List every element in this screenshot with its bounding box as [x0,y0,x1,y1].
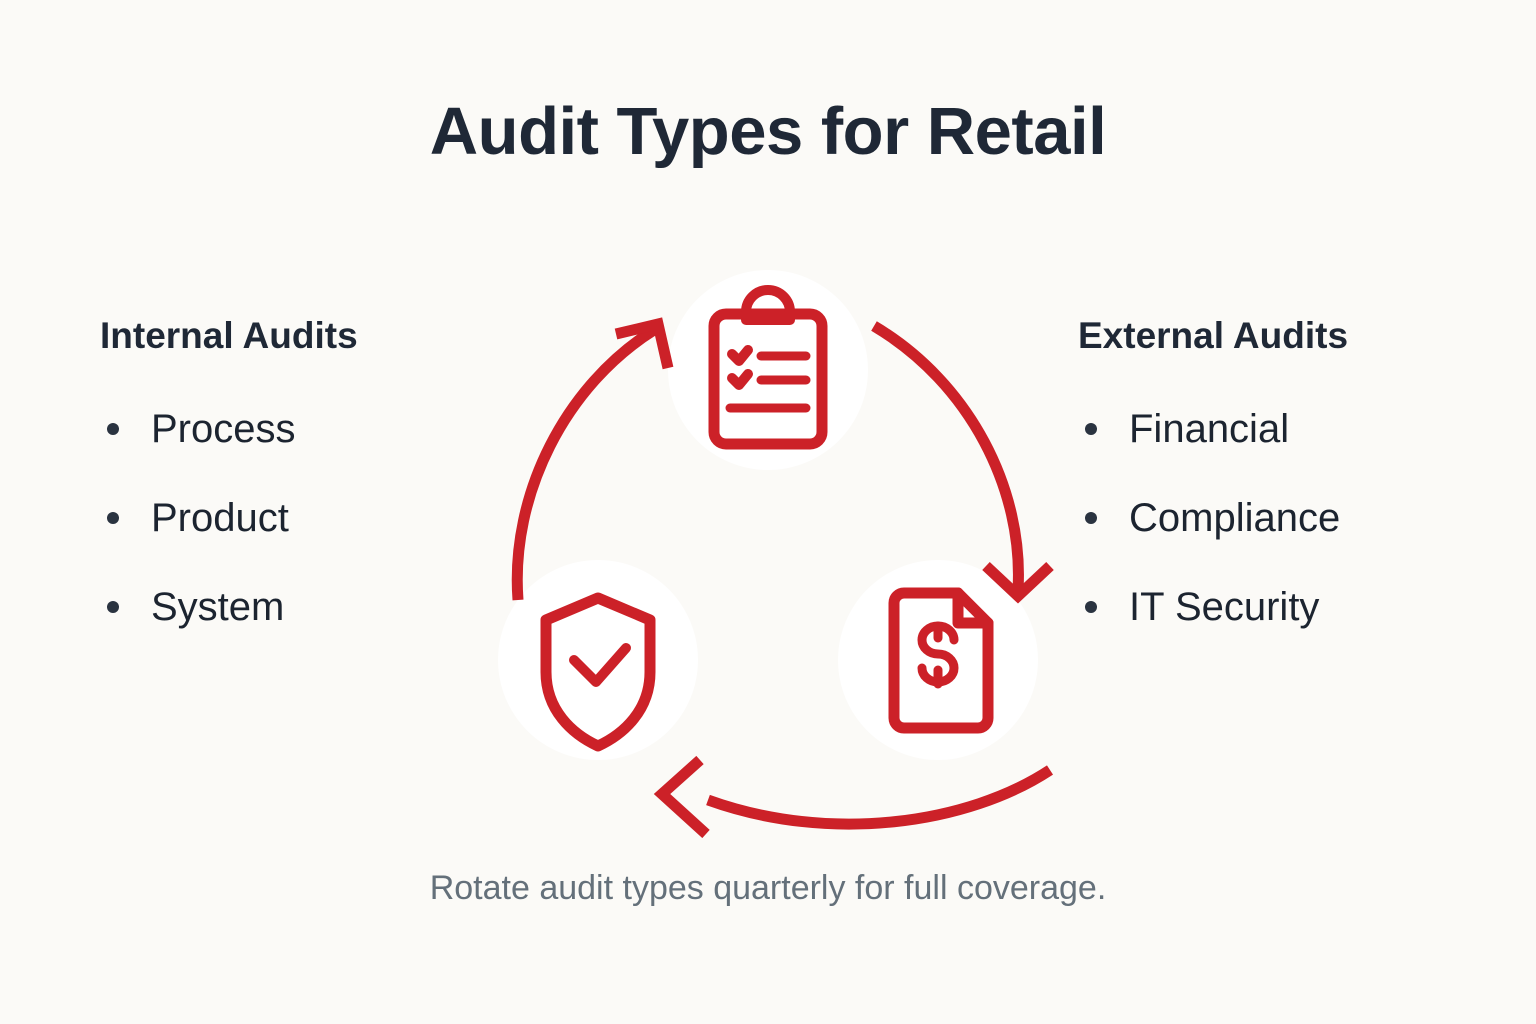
page-title: Audit Types for Retail [0,97,1536,167]
list-item: Process [100,409,490,498]
list-item: Product [100,498,490,587]
list-item: System [100,587,490,676]
infographic-canvas: Audit Types for Retail Internal Audits P… [0,0,1536,1024]
audit-cycle-diagram [458,248,1078,838]
external-audits-column: External Audits Financial Compliance IT … [1078,316,1498,676]
bullet-dot-icon [107,423,119,435]
list-item-label: Compliance [1129,498,1340,538]
list-item: Financial [1078,409,1498,498]
security-node-circle [498,560,698,760]
list-item-label: Product [151,498,289,538]
bullet-dot-icon [107,601,119,613]
bullet-dot-icon [1085,601,1097,613]
list-item-label: IT Security [1129,587,1319,627]
list-item-label: Financial [1129,409,1289,449]
internal-audits-heading: Internal Audits [100,316,490,357]
arrow-right-to-left-path [708,770,1050,824]
bullet-dot-icon [1085,423,1097,435]
list-item-label: Process [151,409,296,449]
arrow-top-to-right-path [874,326,1018,590]
internal-audits-list: Process Product System [100,409,490,676]
arrowhead-upleft-icon [662,760,706,834]
external-audits-list: Financial Compliance IT Security [1078,409,1498,676]
external-audits-heading: External Audits [1078,316,1498,357]
list-item: Compliance [1078,498,1498,587]
list-item-label: System [151,587,284,627]
internal-audits-column: Internal Audits Process Product System [100,316,490,676]
bullet-dot-icon [1085,512,1097,524]
arrow-left-to-top-path [517,330,654,600]
bullet-dot-icon [107,512,119,524]
footer-note: Rotate audit types quarterly for full co… [0,869,1536,908]
list-item: IT Security [1078,587,1498,676]
